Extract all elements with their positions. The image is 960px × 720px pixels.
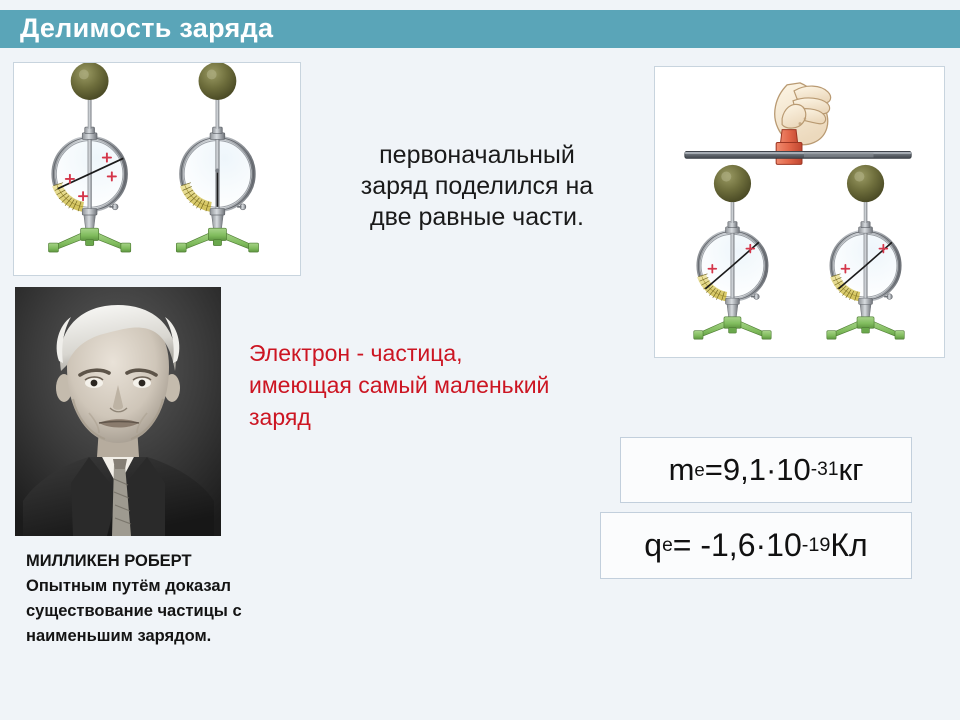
connecting-rod (685, 151, 911, 158)
electron-definition: Электрон - частица, имеющая самый малень… (249, 337, 649, 433)
formula-charge-value: 1,6·10 (711, 527, 802, 564)
formula-charge-subscript: e (662, 535, 673, 557)
formula-charge-symbol: q (644, 527, 662, 564)
electron-definition-line-1: Электрон - частица, (249, 337, 649, 369)
page-title: Делимость заряда (20, 13, 273, 44)
formula-charge-exponent: -19 (802, 534, 831, 557)
center-statement-line-2: заряд поделился на (312, 171, 642, 202)
formula-mass-equals: = (705, 452, 723, 488)
millikan-caption-line-3: существование частицы с (26, 599, 336, 624)
center-statement-line-3: две равные части. (312, 202, 642, 233)
formula-mass-exponent: -31 (811, 459, 839, 481)
millikan-portrait-svg (15, 287, 221, 536)
millikan-caption-line-4: наименьшим зарядом. (26, 624, 336, 649)
electroscopes-before-svg (14, 63, 300, 275)
millikan-name: МИЛЛИКЕН РОБЕРТ (26, 549, 336, 574)
formula-mass-unit: кг (839, 452, 864, 488)
millikan-caption: МИЛЛИКЕН РОБЕРТ Опытным путём доказал су… (26, 549, 336, 649)
illustration-electroscopes-connected (654, 66, 945, 358)
formula-charge-equals: = - (673, 527, 711, 564)
illustration-electroscopes-before (13, 62, 301, 276)
center-statement: первоначальный заряд поделился на две ра… (312, 140, 642, 233)
center-statement-line-1: первоначальный (312, 140, 642, 171)
electroscope-uncharged (176, 63, 258, 252)
formula-mass-symbol: m (669, 452, 695, 488)
electroscope-left-charged (694, 165, 771, 339)
millikan-portrait (15, 287, 221, 536)
electroscope-charged (49, 63, 131, 252)
formula-mass-value: 9,1·10 (723, 452, 811, 488)
electroscopes-connected-svg (655, 67, 944, 357)
formula-mass-subscript: e (694, 459, 704, 481)
formula-electron-mass: me = 9,1·10-31 кг (620, 437, 912, 503)
formula-charge-unit: Кл (830, 527, 867, 564)
electron-definition-line-3: заряд (249, 401, 649, 433)
millikan-caption-line-2: Опытным путём доказал (26, 574, 336, 599)
formula-electron-charge: qe = - 1,6·10-19 Кл (600, 512, 912, 579)
electroscope-right-charged (827, 165, 904, 339)
electron-definition-line-2: имеющая самый маленький (249, 369, 649, 401)
